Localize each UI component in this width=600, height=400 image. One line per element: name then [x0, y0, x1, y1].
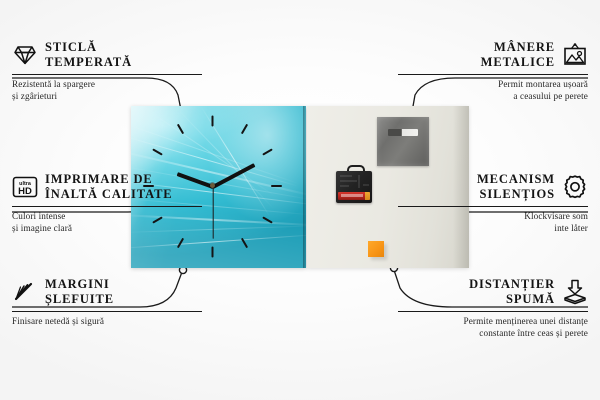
callout-description: Culori intense și imagine clară: [12, 210, 202, 234]
clock-tick: [212, 247, 214, 258]
callout-silent-mechanism: MECANISM SILENȚIOS Klockvisare som inte …: [398, 172, 588, 234]
callout-rule: [12, 206, 202, 207]
callout-rule: [12, 74, 202, 75]
clock-tick: [177, 124, 184, 135]
callout-title: MÂNERE METALICE: [481, 40, 555, 70]
svg-text:HD: HD: [18, 186, 32, 197]
ultra-hd-icon: ultra HD: [12, 174, 38, 200]
press-down-pad-icon: [562, 279, 588, 305]
callout-title: DISTANȚIER SPUMĂ: [469, 277, 555, 307]
callout-description: Finisare netedă și sigură: [12, 315, 202, 327]
clock-tick: [241, 124, 248, 135]
gear-icon: [562, 174, 588, 200]
callout-rule: [12, 311, 202, 312]
clock-tick: [152, 148, 163, 155]
foam-spacer-pad: [368, 241, 384, 257]
hanging-picture-icon: [562, 42, 588, 68]
callout-title: IMPRIMARE DE ÎNALTĂ CALITATE: [45, 172, 173, 202]
hanger-slot: [388, 129, 418, 136]
callout-title: MECANISM SILENȚIOS: [477, 172, 555, 202]
callout-rule: [398, 74, 588, 75]
hanger-plate: [377, 117, 429, 166]
infographic-canvas: STICLĂ TEMPERATĂ Rezistentă la spargere …: [0, 0, 600, 400]
callout-polished-edges: MARGINI ȘLEFUITE Finisare netedă și sigu…: [12, 277, 202, 327]
callout-tempered-glass: STICLĂ TEMPERATĂ Rezistentă la spargere …: [12, 40, 202, 102]
clock-second-hand: [212, 187, 213, 239]
callout-description: Permit montarea ușoară a ceasului pe per…: [398, 78, 588, 102]
clock-mechanism: [336, 165, 372, 203]
polished-edge-icon: [12, 279, 38, 305]
clock-center-cap: [210, 183, 215, 188]
callout-title: STICLĂ TEMPERATĂ: [45, 40, 132, 70]
battery: [338, 192, 370, 200]
callout-metal-handles: MÂNERE METALICE Permit montarea ușoară a…: [398, 40, 588, 102]
callout-description: Permite menținerea unei distanțe constan…: [398, 315, 588, 339]
clock-tick: [271, 185, 282, 187]
callout-hd-print: ultra HD IMPRIMARE DE ÎNALTĂ CALITATE Cu…: [12, 172, 202, 234]
callout-description: Klockvisare som inte låter: [398, 210, 588, 234]
callout-title: MARGINI ȘLEFUITE: [45, 277, 114, 307]
mechanism-body: [336, 171, 372, 203]
callout-description: Rezistentă la spargere și zgârieturi: [12, 78, 202, 102]
callout-foam-spacer: DISTANȚIER SPUMĂ Permite menținerea unei…: [398, 277, 588, 339]
callout-rule: [398, 206, 588, 207]
callout-rule: [398, 311, 588, 312]
clock-tick: [262, 148, 273, 155]
diamond-icon: [12, 42, 38, 68]
clock-tick: [212, 116, 214, 127]
